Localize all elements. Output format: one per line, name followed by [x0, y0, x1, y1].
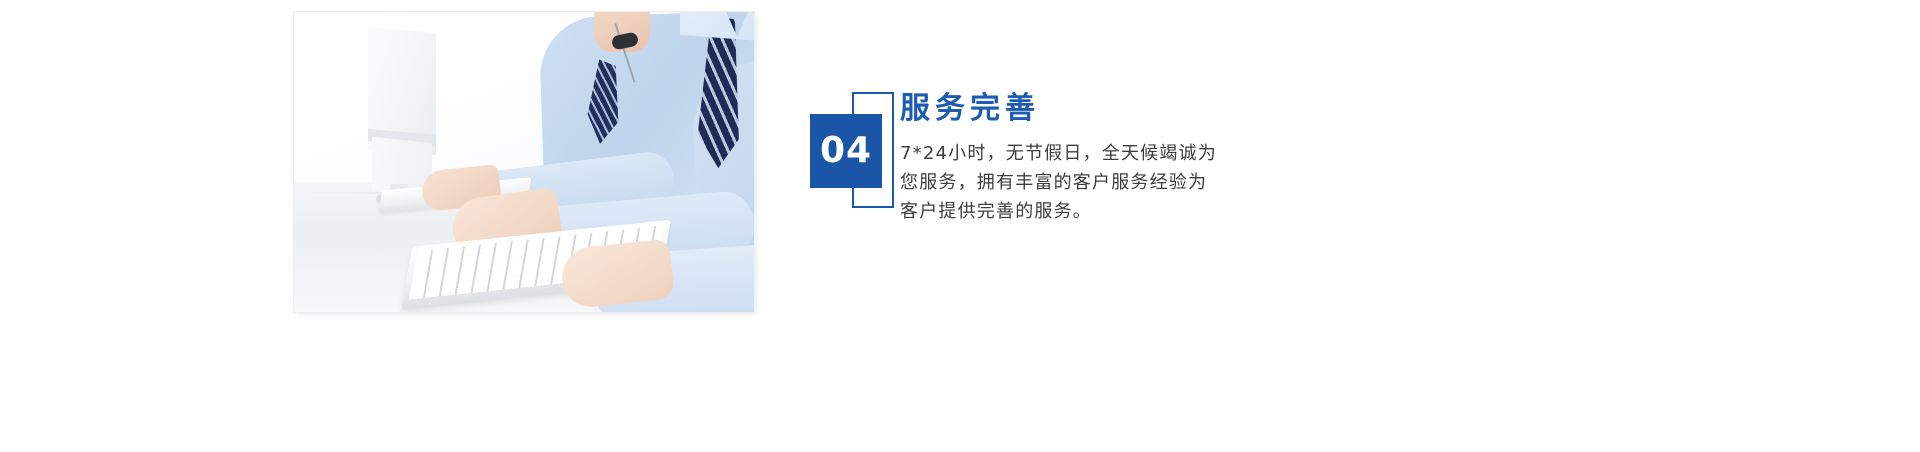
feature-title: 服务完善: [900, 92, 1440, 125]
description-line-1: 7*24小时，无节假日，全天候竭诚为: [900, 139, 1300, 168]
description-line-3: 客户提供完善的服务。: [900, 197, 1300, 226]
description-line-2: 您服务，拥有丰富的客户服务经验为: [900, 168, 1300, 197]
customer-service-photo: [294, 12, 754, 312]
step-number-text: 04: [820, 133, 872, 169]
feature-text-block: 服务完善 7*24小时，无节假日，全天候竭诚为 您服务，拥有丰富的客户服务经验为…: [900, 92, 1440, 226]
feature-photo-frame: [294, 12, 754, 312]
feature-description: 7*24小时，无节假日，全天候竭诚为 您服务，拥有丰富的客户服务经验为 客户提供…: [900, 139, 1300, 226]
step-number-badge: 04: [810, 92, 898, 212]
service-feature-banner: 04 服务完善 7*24小时，无节假日，全天候竭诚为 您服务，拥有丰富的客户服务…: [0, 0, 1920, 452]
badge-filled-square: 04: [810, 114, 882, 188]
